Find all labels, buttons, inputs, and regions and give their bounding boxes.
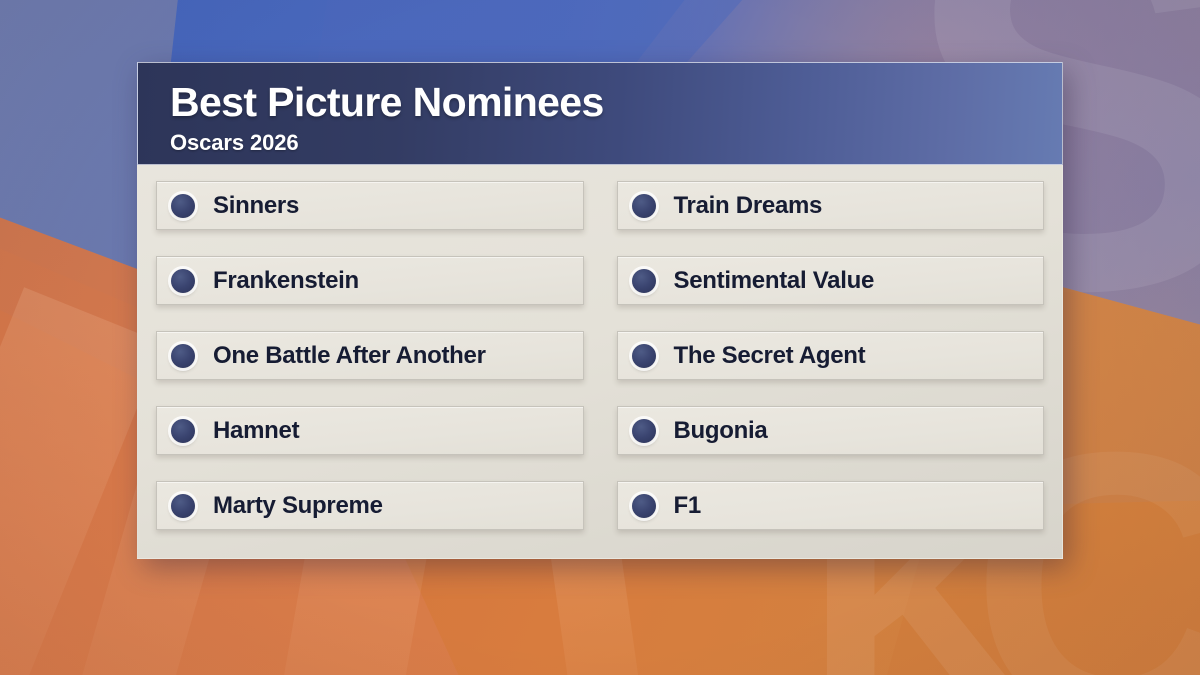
- nominee-label: Bugonia: [674, 417, 768, 445]
- bullet-dot-icon: [632, 494, 656, 518]
- list-item[interactable]: F1: [617, 481, 1045, 530]
- list-item[interactable]: The Secret Agent: [617, 331, 1045, 380]
- nominee-label: Train Dreams: [674, 192, 823, 220]
- nominee-label: Frankenstein: [213, 267, 359, 295]
- panel-body: Sinners Frankenstein One Battle After An…: [137, 165, 1063, 559]
- list-item[interactable]: Hamnet: [156, 406, 584, 455]
- bullet-dot-icon: [171, 194, 195, 218]
- bullet-dot-icon: [632, 194, 656, 218]
- bullet-dot-icon: [632, 269, 656, 293]
- list-item[interactable]: One Battle After Another: [156, 331, 584, 380]
- nominees-panel: Best Picture Nominees Oscars 2026 Sinner…: [137, 62, 1063, 559]
- nominee-label: Sentimental Value: [674, 267, 875, 295]
- list-item[interactable]: Bugonia: [617, 406, 1045, 455]
- list-item[interactable]: Sentimental Value: [617, 256, 1045, 305]
- nominee-label: One Battle After Another: [213, 342, 486, 370]
- list-item[interactable]: Sinners: [156, 181, 584, 230]
- bullet-dot-icon: [632, 344, 656, 368]
- nominees-left-column: Sinners Frankenstein One Battle After An…: [156, 181, 584, 530]
- page-title: Best Picture Nominees: [170, 81, 1036, 124]
- panel-header: Best Picture Nominees Oscars 2026: [137, 62, 1063, 165]
- nominee-label: Hamnet: [213, 417, 299, 445]
- page-subtitle: Oscars 2026: [170, 130, 1036, 156]
- bullet-dot-icon: [171, 419, 195, 443]
- list-item[interactable]: Train Dreams: [617, 181, 1045, 230]
- bullet-dot-icon: [171, 494, 195, 518]
- list-item[interactable]: Frankenstein: [156, 256, 584, 305]
- bullet-dot-icon: [171, 269, 195, 293]
- nominee-label: Marty Supreme: [213, 492, 383, 520]
- nominee-label: The Secret Agent: [674, 342, 866, 370]
- nominee-label: F1: [674, 492, 701, 520]
- slide-canvas: S O K C Best Picture Nominees Oscars 202…: [0, 0, 1200, 675]
- nominees-right-column: Train Dreams Sentimental Value The Secre…: [617, 181, 1045, 530]
- bullet-dot-icon: [632, 419, 656, 443]
- nominee-label: Sinners: [213, 192, 299, 220]
- list-item[interactable]: Marty Supreme: [156, 481, 584, 530]
- bullet-dot-icon: [171, 344, 195, 368]
